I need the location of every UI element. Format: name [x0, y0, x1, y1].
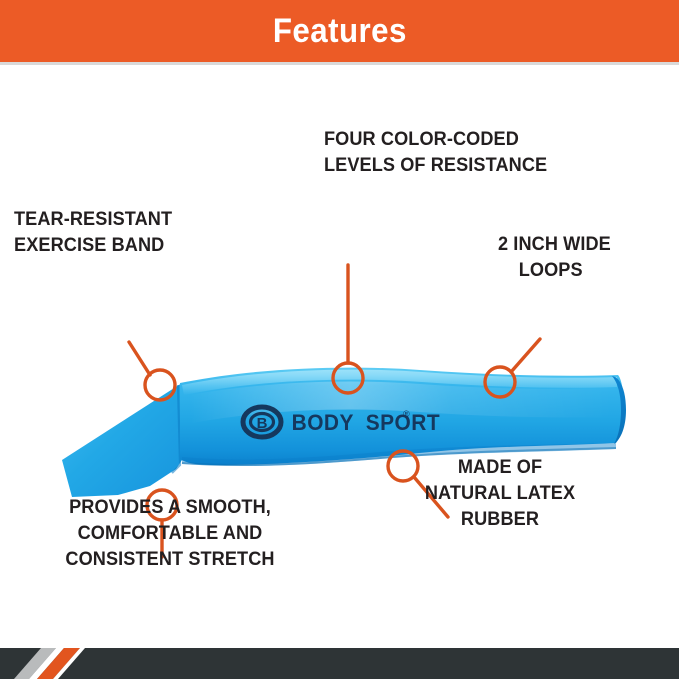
callout-line-text: MADE OF: [425, 455, 575, 481]
footer-bar: [0, 648, 679, 679]
logo-wordmark-body: BODY: [292, 411, 354, 436]
callout-line-tear-resistant: [129, 342, 150, 375]
callout-line-two-inch: [511, 339, 540, 372]
footer-base: [0, 648, 679, 679]
logo-registered-mark: ®: [403, 409, 410, 419]
callout-line-text: LEVELS OF RESISTANCE: [324, 153, 547, 179]
body-sport-logo: B BODY SPORT ®: [243, 407, 440, 437]
callout-line-text: 2 INCH WIDE: [498, 232, 611, 258]
callout-label-two-inch-wide-loops: 2 INCH WIDE LOOPS: [498, 232, 611, 284]
callout-line-text: LOOPS: [498, 258, 611, 284]
callout-line-text: COMFORTABLE AND: [65, 521, 274, 547]
callout-line-text: RUBBER: [425, 507, 575, 533]
callout-ring-tear-resistant: [145, 370, 175, 400]
callout-label-four-levels: FOUR COLOR-CODED LEVELS OF RESISTANCE: [324, 127, 547, 179]
callout-line-text: PROVIDES A SMOOTH,: [65, 495, 274, 521]
infographic-page: Features: [0, 0, 679, 679]
callout-line-text: FOUR COLOR-CODED: [324, 127, 547, 153]
product-illustration-stage: B BODY SPORT ®: [0, 65, 679, 625]
header-bar: Features: [0, 0, 679, 62]
logo-badge-letter: B: [257, 415, 268, 432]
page-title: Features: [272, 14, 406, 48]
callout-label-smooth-stretch: PROVIDES A SMOOTH, COMFORTABLE AND CONSI…: [65, 495, 274, 573]
callout-line-text: EXERCISE BAND: [14, 233, 172, 259]
callout-label-natural-latex-rubber: MADE OF NATURAL LATEX RUBBER: [425, 455, 575, 533]
callout-label-tear-resistant: TEAR-RESISTANT EXERCISE BAND: [14, 207, 172, 259]
callout-line-text: TEAR-RESISTANT: [14, 207, 172, 233]
callout-line-text: NATURAL LATEX: [425, 481, 575, 507]
footer-stripe-graphic: [0, 648, 679, 679]
callout-line-text: CONSISTENT STRETCH: [65, 547, 274, 573]
